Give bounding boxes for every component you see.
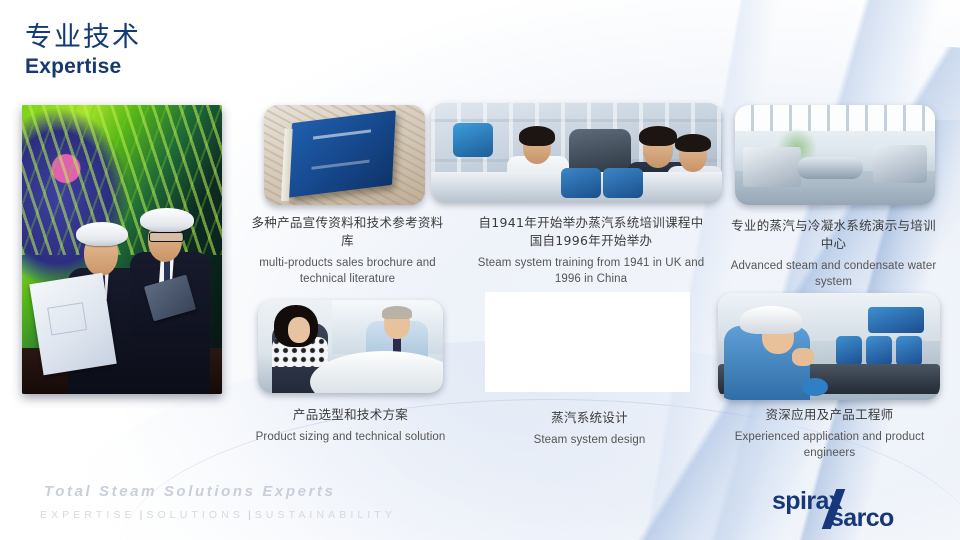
page-title-english: Expertise <box>25 55 141 79</box>
caption-brochure-chinese: 多种产品宣传资料和技术参考资料库 <box>250 214 445 250</box>
slide-canvas: 专业技术 Expertise <box>0 0 960 540</box>
caption-product-sizing-english: Product sizing and technical solution <box>253 429 448 445</box>
footer-separator-1: | <box>136 509 147 521</box>
spirax-sarco-logo: spirax sarco <box>772 487 942 531</box>
footer-pillar-sustainability: SUSTAINABILITY <box>255 509 396 521</box>
caption-training-centre-chinese: 专业的蒸汽与冷凝水系统演示与培训中心 <box>726 217 941 253</box>
photo-customer-consultation <box>258 300 443 393</box>
page-title-chinese: 专业技术 <box>25 22 141 53</box>
caption-experienced-engineers-chinese: 资深应用及产品工程师 <box>722 406 937 424</box>
photo-field-engineer-valves <box>718 293 940 400</box>
photo-training-centre-hall <box>735 105 935 205</box>
photo-product-brochure-book <box>264 105 425 205</box>
footer-pillar-solutions: SOLUTIONS <box>146 509 244 521</box>
caption-training-chinese: 自1941年开始举办蒸汽系统培训课程中国自1996年开始举办 <box>473 214 709 250</box>
photo-steam-system-schematic <box>485 292 690 392</box>
caption-experienced-engineers: 资深应用及产品工程师 Experienced application and p… <box>722 406 937 461</box>
caption-system-design-english: Steam system design <box>492 432 687 448</box>
caption-experienced-engineers-english: Experienced application and product engi… <box>722 429 937 461</box>
page-title: 专业技术 Expertise <box>25 22 141 79</box>
caption-product-sizing: 产品选型和技术方案 Product sizing and technical s… <box>253 406 448 445</box>
footer-separator-2: | <box>244 509 255 521</box>
caption-product-sizing-chinese: 产品选型和技术方案 <box>253 406 448 424</box>
logo-word-sarco: sarco <box>830 504 894 533</box>
footer-pillar-expertise: EXPERTISE <box>40 509 136 521</box>
caption-system-design: 蒸汽系统设计 Steam system design <box>492 409 687 448</box>
caption-brochure-english: multi-products sales brochure and techni… <box>250 255 445 287</box>
photo-engineers-reviewing-drawings <box>22 105 222 394</box>
caption-training-english: Steam system training from 1941 in UK an… <box>473 255 709 287</box>
footer-tagline: Total Steam Solutions Experts <box>44 483 336 500</box>
caption-system-design-chinese: 蒸汽系统设计 <box>492 409 687 427</box>
photo-steam-training-class <box>431 103 722 202</box>
caption-training-centre: 专业的蒸汽与冷凝水系统演示与培训中心 Advanced steam and co… <box>726 217 941 290</box>
caption-training: 自1941年开始举办蒸汽系统培训课程中国自1996年开始举办 Steam sys… <box>473 214 709 287</box>
footer-pillars: EXPERTISE|SOLUTIONS|SUSTAINABILITY <box>40 509 396 521</box>
caption-brochure: 多种产品宣传资料和技术参考资料库 multi-products sales br… <box>250 214 445 287</box>
blueprint-sheet <box>29 273 116 375</box>
caption-training-centre-english: Advanced steam and condensate water syst… <box>726 258 941 290</box>
